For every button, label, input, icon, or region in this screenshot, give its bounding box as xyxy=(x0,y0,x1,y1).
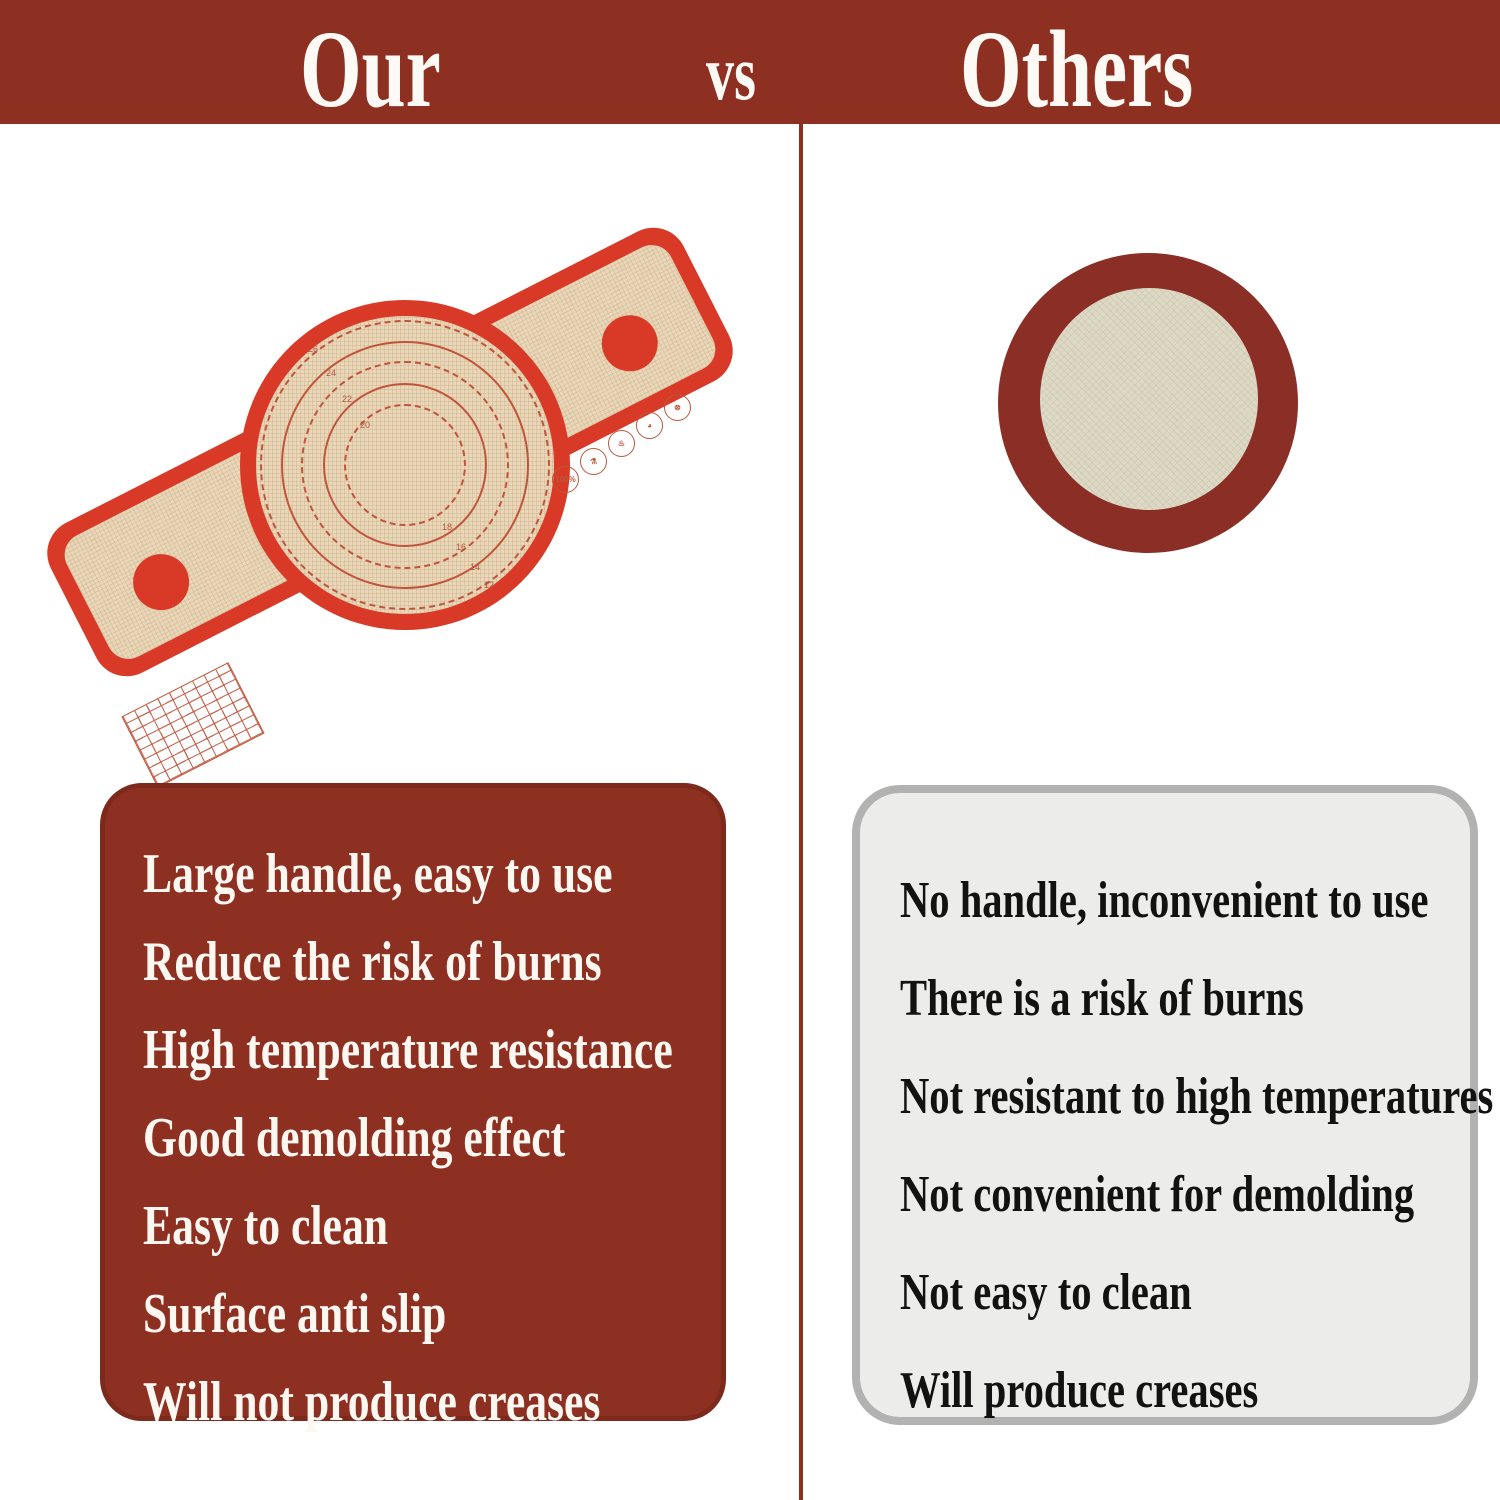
measure-label-14: 14 xyxy=(470,562,480,572)
mat-center-surface: 26 24 22 20 18 16 14 12 10 CM xyxy=(256,316,554,614)
feature-item: No handle, inconvenient to use xyxy=(900,875,1345,927)
food-safe-icon: ⚗ xyxy=(580,448,607,475)
measure-label-22: 22 xyxy=(342,394,352,404)
measure-label-cm: CM xyxy=(518,608,532,614)
feature-list-others: No handle, inconvenient to use There is … xyxy=(900,875,1470,1417)
feature-item: Not resistant to high temperatures xyxy=(900,1071,1345,1123)
header-title-our: Our xyxy=(300,14,441,124)
feature-item: Reduce the risk of burns xyxy=(143,934,594,990)
flame-icon: ◕ xyxy=(636,412,663,439)
measure-label-12: 12 xyxy=(484,580,494,590)
mat-conversion-grid xyxy=(121,662,264,788)
feature-item: Will produce creases xyxy=(900,1365,1345,1417)
feature-item: Large handle, easy to use xyxy=(143,846,594,902)
feature-panel-others: No handle, inconvenient to use There is … xyxy=(852,785,1478,1425)
mat-icon-row: 100% ⚗ ♨ ◕ ⊗ xyxy=(548,396,688,496)
temperature-icon: ♨ xyxy=(608,430,635,457)
header-title-others: Others xyxy=(960,14,1193,124)
feature-item: Surface anti slip xyxy=(143,1286,594,1342)
product-image-others xyxy=(998,253,1298,553)
feature-item: Not convenient for demolding xyxy=(900,1169,1345,1221)
measure-label-20: 20 xyxy=(360,420,370,430)
column-divider xyxy=(799,124,803,1500)
others-mat-texture xyxy=(1040,288,1258,510)
measure-label-18: 18 xyxy=(442,522,452,532)
measure-label-24: 24 xyxy=(326,368,336,378)
others-mat-surface xyxy=(1040,288,1258,510)
feature-item: Easy to clean xyxy=(143,1198,594,1254)
product-image-our: 26 24 22 20 18 16 14 12 10 CM 100% ⚗ ♨ ◕… xyxy=(0,140,790,760)
feature-panel-our: Large handle, easy to use Reduce the ris… xyxy=(100,783,726,1421)
feature-list-our: Large handle, easy to use Reduce the ris… xyxy=(143,846,721,1430)
measure-label-26: 26 xyxy=(308,344,318,354)
feature-item: Not easy to clean xyxy=(900,1267,1345,1319)
measure-label-16: 16 xyxy=(456,542,466,552)
header-band: Our vs Others xyxy=(0,0,1500,124)
hundred-percent-icon: 100% xyxy=(552,466,579,493)
feature-item: There is a risk of burns xyxy=(900,973,1345,1025)
header-title-vs: vs xyxy=(706,34,756,112)
feature-item: Will not produce creases xyxy=(143,1374,594,1430)
measure-label-10: 10 xyxy=(500,596,510,606)
mat-center-disc: 26 24 22 20 18 16 14 12 10 CM xyxy=(240,300,570,630)
feature-item: Good demolding effect xyxy=(143,1110,594,1166)
feature-item: High temperature resistance xyxy=(143,1022,594,1078)
no-cut-icon: ⊗ xyxy=(664,394,691,421)
